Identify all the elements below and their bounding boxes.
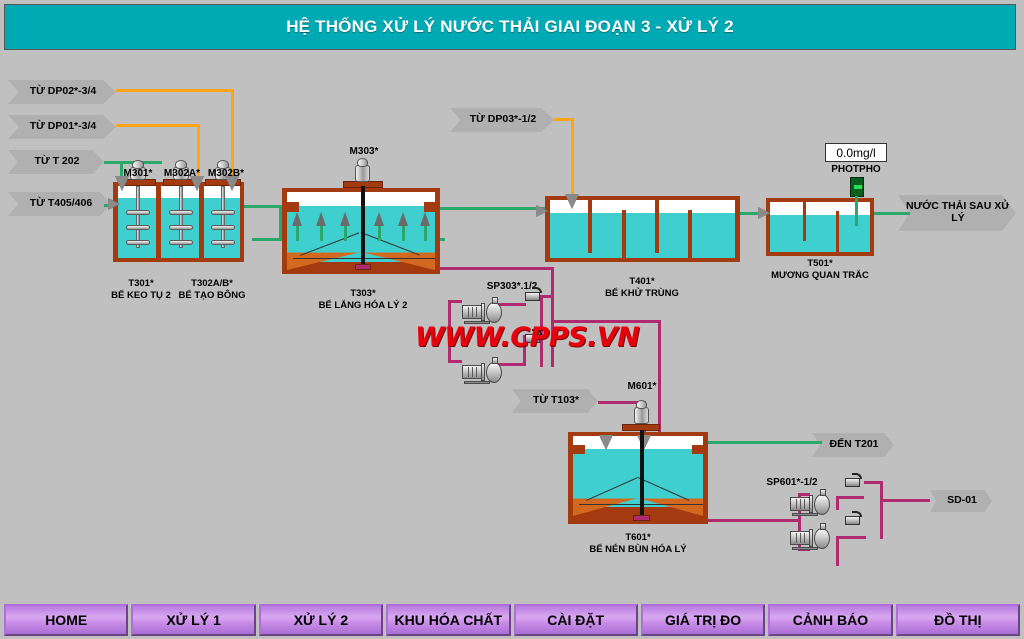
mixer-m302b-blade-2	[211, 225, 235, 230]
pump-flange	[481, 363, 485, 381]
tank-t401-label: T401* BỂ KHỬ TRÙNG	[588, 276, 696, 300]
pump-base	[464, 381, 490, 384]
tag-label: TỪ T405/406	[30, 198, 92, 210]
mixer-m302b-shaft	[221, 186, 225, 248]
t303-feed-stem-4	[378, 225, 381, 241]
mixer-m601-label: M601*	[614, 381, 670, 392]
pump-volute	[814, 494, 830, 515]
pipe-dp01-horizontal	[116, 124, 200, 127]
tag-label: TỪ DP03*-1/2	[470, 114, 537, 126]
tag-sd01[interactable]: SD-01	[930, 490, 992, 512]
tank-name: MƯƠNG QUAN TRẮC	[762, 270, 878, 282]
pump-flange	[481, 303, 485, 321]
mixer-m302a-shaft	[179, 186, 183, 248]
pipe-dp03-vertical	[571, 118, 574, 198]
t303-diffuser-3	[340, 212, 350, 226]
tank-water	[550, 213, 735, 258]
baffle-4	[688, 210, 692, 258]
photpho-sensor-icon	[850, 177, 864, 225]
nav-button-gia-tri-do[interactable]: GIÁ TRỊ ĐO	[641, 604, 765, 636]
pipe-t302-out-c	[252, 238, 282, 241]
valve-body	[845, 516, 860, 525]
t303-feed-stem-6	[424, 225, 427, 241]
inlet-arrow-t302b	[225, 176, 239, 191]
photpho-label: PHOTPHO	[823, 164, 889, 175]
pump-flange	[809, 495, 813, 513]
pump-volute	[486, 362, 502, 383]
tag-from-t405-406[interactable]: TỪ T405/406	[8, 192, 112, 216]
t303-diffuser-2	[316, 212, 326, 226]
mixer-m301-shaft	[136, 186, 140, 248]
nav-label: HOME	[45, 612, 87, 628]
pump-volute	[814, 528, 830, 549]
t303-feed-stem-5	[402, 225, 405, 241]
mixer-m302a-blade-3	[169, 240, 193, 245]
pump-flange	[809, 529, 813, 547]
pump-sp601-2[interactable]	[790, 528, 834, 550]
mixer-body	[634, 407, 649, 424]
mixer-cap	[636, 400, 647, 409]
nav-label: CÀI ĐẶT	[547, 612, 604, 628]
tank-hopper-right	[638, 498, 703, 516]
pump-base	[792, 513, 818, 516]
mixer-m302a-blade-2	[169, 225, 193, 230]
t303-sludge-outlet	[355, 264, 371, 270]
tag-to-t201[interactable]: ĐẾN T201	[812, 433, 894, 457]
launder-right	[424, 202, 435, 212]
tag-label: TỪ DP01*-3/4	[30, 121, 97, 133]
valve-sp601-2[interactable]	[845, 512, 863, 526]
valve-sp303-1[interactable]	[525, 288, 543, 302]
nav-label: KHU HÓA CHẤT	[395, 612, 503, 628]
pump-motor	[790, 497, 810, 511]
launder-left	[573, 445, 585, 454]
scada-screen: HỆ THỐNG XỬ LÝ NƯỚC THẢI GIAI ĐOẠN 3 - X…	[0, 0, 1024, 639]
t601-sludge-outlet	[633, 515, 650, 521]
mixer-m301-blade-3	[126, 240, 150, 245]
nav-button-canh-bao[interactable]: CẢNH BÁO	[768, 604, 892, 636]
sensor-head	[850, 177, 864, 197]
tag-treated-water-out[interactable]: NƯỚC THẢI SAU XỬ LÝ	[898, 195, 1016, 231]
nav-label: CẢNH BÁO	[793, 612, 868, 628]
pump-group-sp601-label: SP601*-1/2	[748, 477, 836, 488]
tag-from-t103[interactable]: TỪ T103*	[512, 389, 598, 413]
nav-label: XỬ LÝ 2	[294, 612, 348, 628]
tank-t601-label: T601* BỂ NÉN BÙN HÓA LÝ	[580, 532, 696, 556]
tank-name: BỂ LẮNG HÓA LÝ 2	[308, 300, 418, 312]
nav-button-home[interactable]: HOME	[4, 604, 128, 636]
nav-button-xuly1[interactable]: XỬ LÝ 1	[131, 604, 255, 636]
tag-label: TỪ T 202	[35, 156, 80, 168]
tag-from-dp01[interactable]: TỪ DP01*-3/4	[8, 115, 116, 139]
tag-from-dp03[interactable]: TỪ DP03*-1/2	[450, 108, 554, 132]
tank-hopper-left	[287, 252, 361, 270]
pipe-sp601-v1-out	[864, 481, 882, 484]
photpho-value-display[interactable]: 0.0mg/l	[825, 143, 887, 162]
mixer-m303-label: M303*	[334, 146, 394, 157]
t303-feed-stem-1	[296, 225, 299, 241]
pipe-sp303-suction-2	[448, 360, 462, 363]
tag-label: TỪ T103*	[533, 395, 579, 407]
tank-name: BỂ NÉN BÙN HÓA LÝ	[580, 544, 696, 556]
mixer-m302b-blade-1	[211, 210, 235, 215]
inlet-arrow-t501	[758, 207, 770, 219]
tank-name: BỂ KHỬ TRÙNG	[588, 288, 696, 300]
tank-t302-label: T302A/B* BỂ TẠO BÔNG	[172, 278, 252, 302]
valve-handle	[852, 473, 862, 479]
tank-tag: T401*	[588, 276, 696, 288]
nav-label: GIÁ TRỊ ĐO	[665, 612, 741, 628]
tank-tag: T601*	[580, 532, 696, 544]
pipe-sp303-suction-1	[448, 300, 462, 303]
pipe-sp601-to-sd01	[880, 499, 930, 502]
mixer-m301-blade-2	[126, 225, 150, 230]
nav-label: ĐỒ THỊ	[934, 612, 981, 628]
valve-body	[845, 478, 860, 487]
nav-label: XỬ LÝ 1	[166, 612, 220, 628]
pump-nozzle	[820, 523, 826, 530]
tank-t501-label: T501* MƯƠNG QUAN TRẮC	[762, 258, 878, 282]
inlet-arrow-t401-side	[536, 205, 548, 217]
tag-label: TỪ DP02*-3/4	[30, 86, 97, 98]
mixer-m601-shaft	[640, 430, 644, 518]
tank-tag: T501*	[762, 258, 878, 270]
site-watermark: WWW.CPPS.VN	[415, 322, 639, 353]
pump-nozzle	[492, 357, 498, 364]
tank-tag: T302A/B*	[172, 278, 252, 290]
tank-t303-label: T303* BỂ LẮNG HÓA LÝ 2	[308, 288, 418, 312]
mixer-body	[355, 165, 370, 182]
pipe-sp303-to-t601-b	[658, 320, 661, 436]
baffle-1	[803, 202, 806, 241]
page-title: HỆ THỐNG XỬ LÝ NƯỚC THẢI GIAI ĐOẠN 3 - X…	[286, 17, 734, 37]
tank-hopper-right	[361, 252, 435, 270]
nav-button-do-thi[interactable]: ĐỒ THỊ	[896, 604, 1020, 636]
tag-label: NƯỚC THẢI SAU XỬ LÝ	[906, 201, 1010, 224]
pump-sp303-2[interactable]	[462, 362, 506, 384]
page-title-bar: HỆ THỐNG XỬ LÝ NƯỚC THẢI GIAI ĐOẠN 3 - X…	[4, 4, 1016, 50]
t303-feed-stem-2	[320, 225, 323, 241]
pump-nozzle	[492, 297, 498, 304]
pipe-dp02-horizontal	[116, 89, 234, 92]
mixer-m302a-blade-1	[169, 210, 193, 215]
baffle-2	[622, 210, 626, 258]
sensor-indicator	[854, 185, 862, 189]
inlet-arrow-t301	[115, 176, 129, 191]
launder-left	[287, 202, 299, 212]
tag-from-t202[interactable]: TỪ T 202	[8, 150, 104, 174]
inlet-arrow-t302a	[190, 176, 204, 191]
pump-base	[792, 547, 818, 550]
pipe-t601-to-t201	[706, 441, 822, 444]
tank-hopper-left	[573, 498, 638, 516]
nav-button-khu-hoa-chat[interactable]: KHU HÓA CHẤT	[386, 604, 510, 636]
t303-diffuser-1	[292, 212, 302, 226]
mixer-m303-shaft	[361, 186, 365, 268]
valve-handle	[852, 511, 862, 517]
t303-diffuser-5	[398, 212, 408, 226]
pump-motor	[790, 531, 810, 545]
pipe-sp601-common-riser	[880, 481, 883, 539]
pipe-sp601-d2c	[836, 536, 839, 566]
launder-right	[692, 445, 703, 454]
sensor-probe	[855, 196, 858, 226]
pump-sp601-1[interactable]	[790, 494, 834, 516]
inlet-arrow-t401-chem	[565, 194, 579, 209]
photpho-value: 0.0mg/l	[836, 146, 875, 160]
t303-diffuser-4	[374, 212, 384, 226]
tag-label: ĐẾN T201	[829, 439, 878, 451]
t303-diffuser-6	[420, 212, 430, 226]
mixer-m302b-blade-3	[211, 240, 235, 245]
mixer-cap	[357, 158, 368, 167]
pump-motor	[462, 365, 482, 379]
inlet-arrow-t601-1	[599, 435, 613, 450]
bottom-navigation: HOME XỬ LÝ 1 XỬ LÝ 2 KHU HÓA CHẤT CÀI ĐẶ…	[4, 604, 1020, 636]
t303-feed-stem-3	[344, 225, 347, 241]
baffle-2	[836, 211, 839, 252]
tank-name: BỂ TẠO BÔNG	[172, 290, 252, 302]
nav-button-cai-dat[interactable]: CÀI ĐẶT	[514, 604, 638, 636]
tag-from-dp02[interactable]: TỪ DP02*-3/4	[8, 80, 116, 104]
tank-tag: T303*	[308, 288, 418, 300]
pump-volute	[486, 302, 502, 323]
pipe-sp601-d2b	[836, 536, 866, 539]
nav-button-xuly2[interactable]: XỬ LÝ 2	[259, 604, 383, 636]
pump-nozzle	[820, 489, 826, 496]
baffle-3	[655, 200, 659, 253]
inlet-arrow-t301-side	[108, 198, 120, 210]
valve-sp601-1[interactable]	[845, 474, 863, 488]
mixer-m301-blade-1	[126, 210, 150, 215]
tag-label: SD-01	[947, 495, 977, 507]
pipe-t302-out-a	[244, 205, 282, 208]
valve-handle	[532, 287, 542, 293]
baffle-1	[588, 200, 592, 253]
valve-body	[525, 292, 540, 301]
pipe-sp601-d1b	[836, 496, 864, 499]
pump-motor	[462, 305, 482, 319]
pump-sp303-1[interactable]	[462, 302, 506, 324]
